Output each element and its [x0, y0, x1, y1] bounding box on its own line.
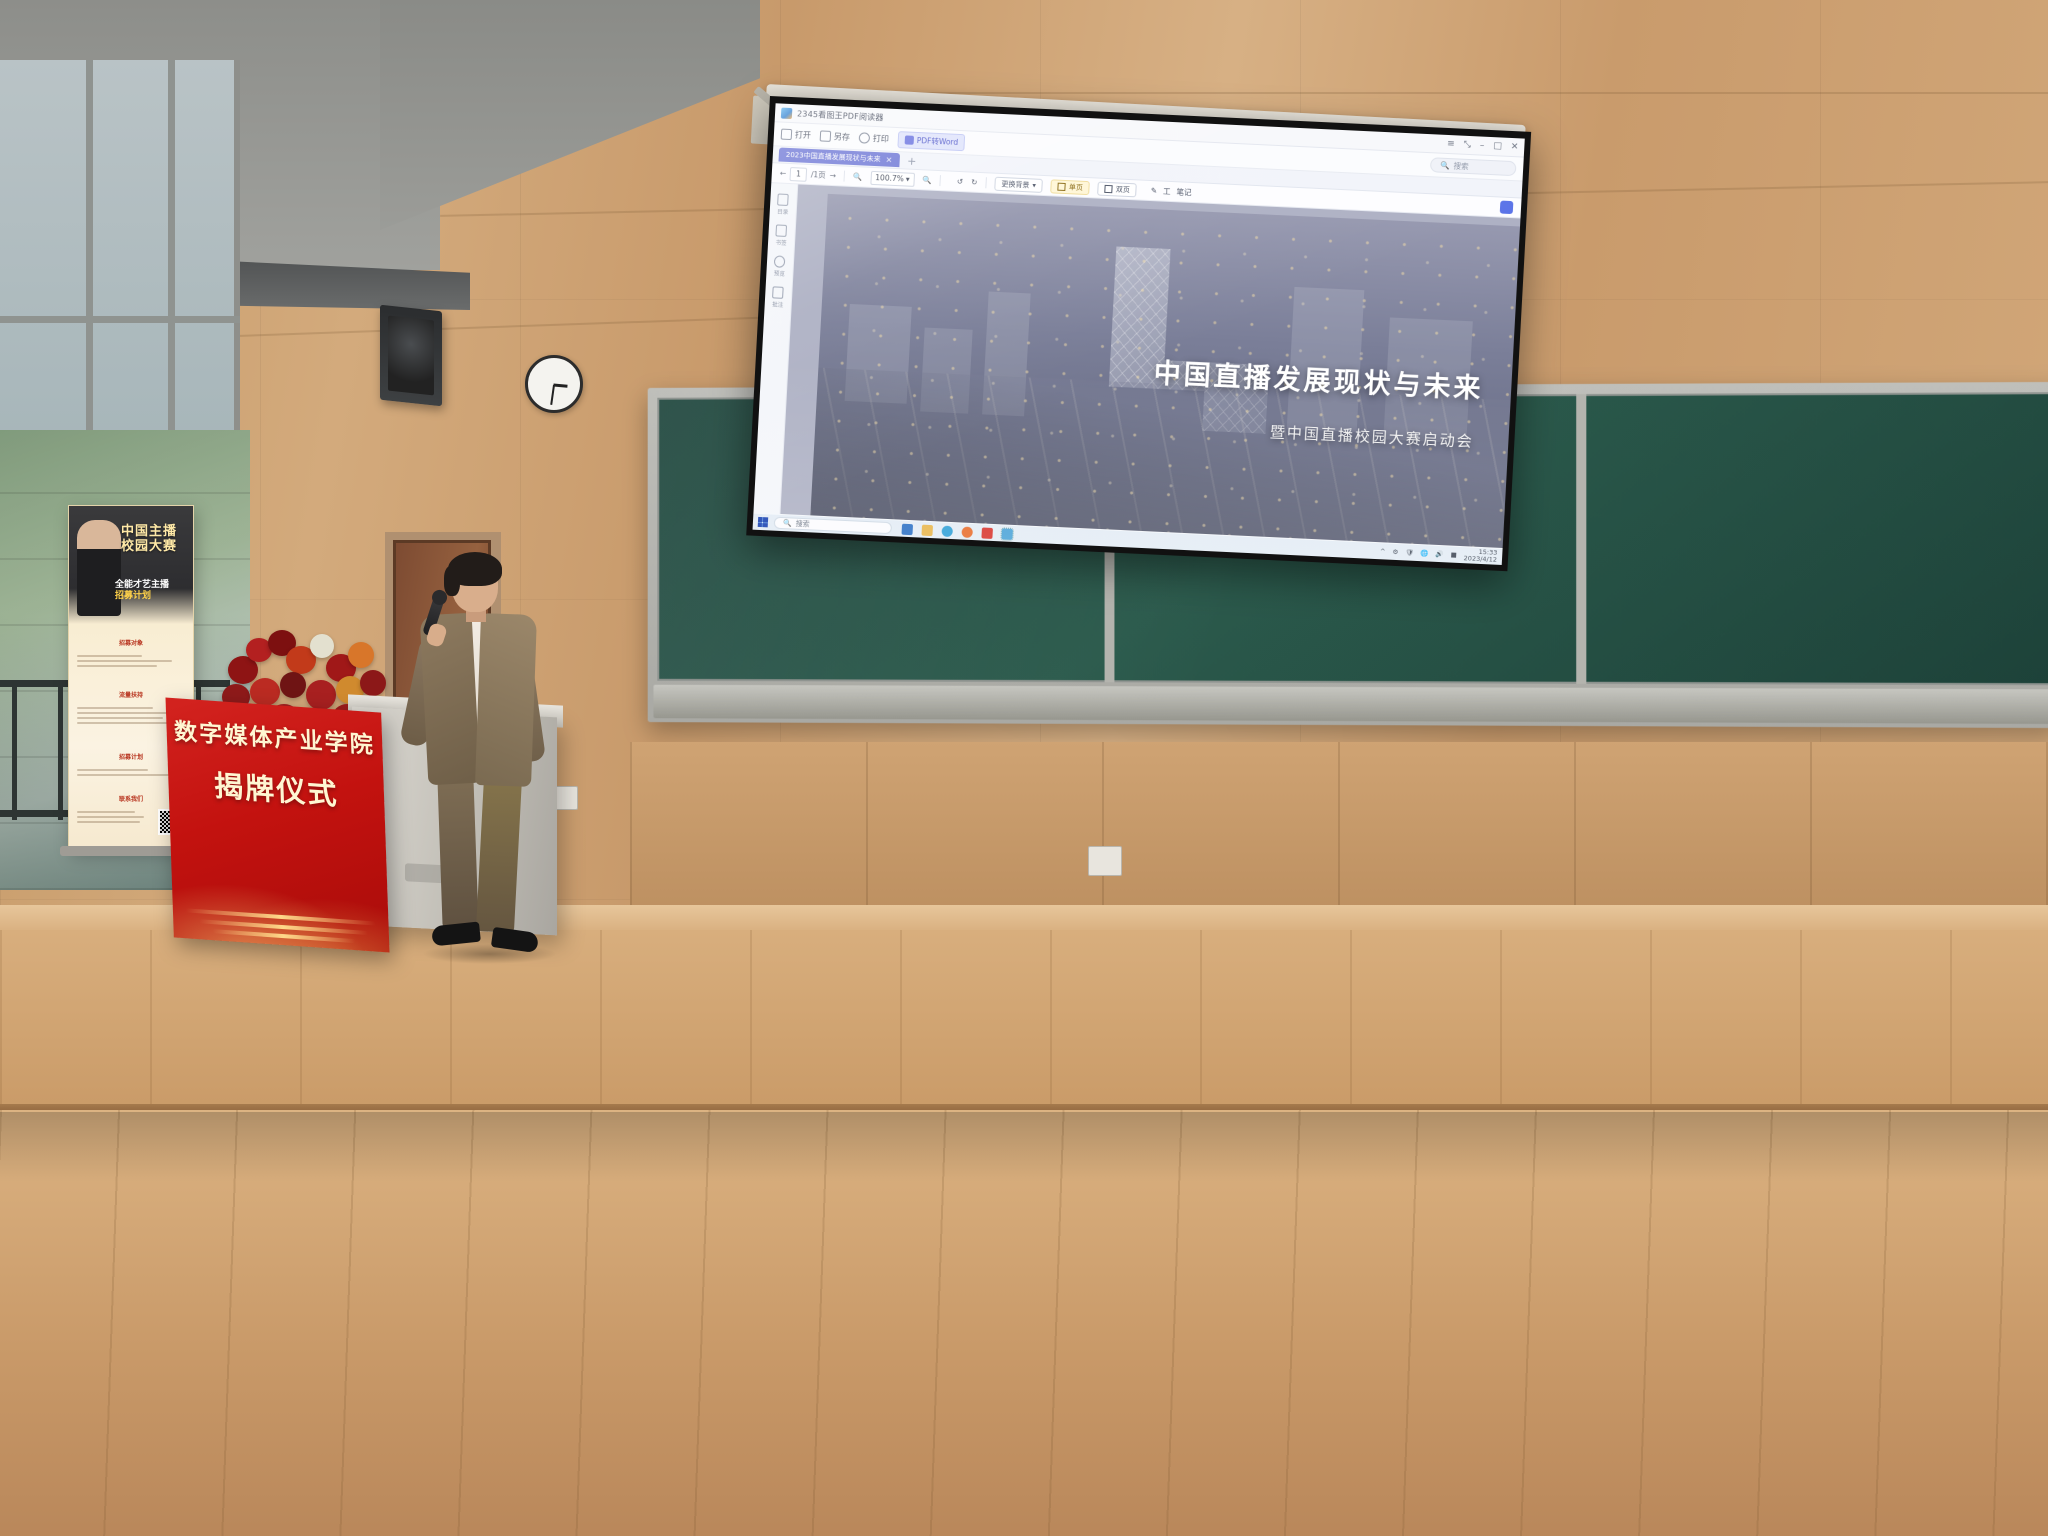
chalk-tray — [653, 685, 2048, 724]
presenter-left-leg — [437, 775, 478, 928]
search-icon: 🔍 — [1440, 161, 1450, 170]
banner-title: 中国主播 校园大赛 — [121, 524, 191, 554]
double-page-icon — [1105, 184, 1113, 192]
annotation-label: 批注 — [772, 300, 783, 309]
document-viewport[interactable]: 中国直播发展现状与未来 暨中国直播校园大赛启动会 — [780, 184, 1520, 548]
tool-button[interactable]: 工 — [1163, 186, 1171, 197]
wall-cabinets — [630, 742, 2048, 932]
preview-icon — [774, 255, 786, 268]
single-page-label: 单页 — [1069, 182, 1084, 193]
projection-screen: 2345看图王PDF阅读器 ≡ ⤡ – □ ✕ 打开 另存 — [746, 96, 1531, 571]
pager: ← 1 /1页 → — [779, 166, 836, 183]
volume-icon[interactable]: 🔊 — [1435, 550, 1444, 558]
banner-sub-line2: 招募计划 — [115, 591, 151, 601]
pen-tool-button[interactable]: ✎ — [1151, 186, 1158, 195]
taskbar-search-placeholder: 搜索 — [795, 519, 810, 530]
save-as-button[interactable]: 另存 — [820, 130, 851, 142]
document-tab-label: 2023中国直播发展现状与未来 — [786, 150, 881, 164]
close-icon[interactable]: ✕ — [1511, 142, 1519, 152]
bookmark-icon — [776, 224, 788, 237]
expand-icon[interactable]: ⤡ — [1463, 140, 1471, 150]
chevron-up-icon[interactable]: ^ — [1380, 547, 1386, 555]
page-number-input[interactable]: 1 — [790, 167, 808, 182]
open-label: 打开 — [795, 129, 812, 141]
battery-icon[interactable]: ■ — [1450, 551, 1457, 559]
ceremony-banner: 数字媒体产业学院 揭牌仪式 — [165, 698, 389, 953]
network-icon[interactable]: 🌐 — [1420, 549, 1429, 557]
edge-icon[interactable] — [901, 523, 913, 535]
convert-icon — [905, 135, 914, 144]
change-background-button[interactable]: 更换背景 ▾ — [994, 176, 1043, 192]
browser-icon[interactable] — [941, 525, 953, 537]
wps-icon[interactable] — [981, 527, 993, 539]
settings-icon[interactable]: ⚙ — [1392, 548, 1398, 556]
print-button[interactable]: 打印 — [859, 132, 890, 144]
app-logo-icon — [781, 107, 793, 119]
next-page-icon[interactable]: → — [829, 171, 836, 180]
zoom-in-icon[interactable]: 🔍 — [922, 175, 932, 184]
double-page-label: 双页 — [1116, 184, 1131, 195]
pdf-page: 中国直播发展现状与未来 暨中国直播校园大赛启动会 — [810, 194, 1520, 548]
chevron-down-icon: ▾ — [1032, 181, 1036, 189]
banner-title-line2: 校园大赛 — [121, 539, 177, 554]
chevron-down-icon: ▾ — [906, 173, 910, 185]
projected-desktop: 2345看图王PDF阅读器 ≡ ⤡ – □ ✕ 打开 另存 — [753, 103, 1525, 565]
ceremony-banner-line2: 揭牌仪式 — [213, 763, 339, 814]
presenter-jacket-right — [475, 613, 537, 787]
wall-speaker-icon — [380, 305, 442, 407]
banner-subtitle: 全能才艺主播 招募计划 — [115, 580, 193, 602]
zoom-out-icon[interactable]: 🔍 — [853, 172, 863, 181]
pdf-to-word-button[interactable]: PDF转Word — [897, 131, 965, 151]
account-avatar[interactable] — [1500, 201, 1514, 215]
prev-page-icon[interactable]: ← — [780, 169, 787, 178]
shield-icon[interactable]: 🛡 — [1405, 548, 1414, 556]
pdf-reader-icon[interactable] — [1001, 528, 1013, 540]
folder-open-icon — [781, 129, 793, 141]
new-tab-icon[interactable]: + — [903, 154, 921, 168]
single-page-button[interactable]: 单页 — [1051, 179, 1091, 195]
search-icon: 🔍 — [783, 519, 792, 527]
maximize-icon[interactable]: □ — [1493, 141, 1502, 151]
app-body: 目录 书签 预览 批注 — [753, 183, 1520, 548]
note-button[interactable]: 笔记 — [1176, 186, 1192, 198]
toc-label: 目录 — [777, 207, 788, 216]
minimize-icon[interactable]: – — [1480, 140, 1485, 150]
taskbar-search-input[interactable]: 🔍 搜索 — [774, 517, 893, 535]
preview-label: 预览 — [774, 269, 785, 278]
stage-front-face — [0, 930, 2048, 1120]
print-label: 打印 — [873, 133, 890, 145]
banner-sub-line1: 全能才艺主播 — [115, 580, 169, 590]
double-page-button[interactable]: 双页 — [1097, 181, 1137, 197]
clock-date: 2023/4/12 — [1463, 555, 1497, 564]
sidebar-item-preview[interactable]: 预览 — [774, 255, 786, 277]
zoom-level-select[interactable]: 100.7% ▾ — [870, 170, 915, 186]
presenter-left-shoe — [431, 922, 481, 947]
zoom-value: 100.7% — [875, 172, 904, 185]
change-background-label: 更换背景 — [1001, 179, 1030, 190]
save-as-label: 另存 — [834, 131, 851, 143]
rotate-left-glyph[interactable]: ↺ — [957, 177, 964, 186]
search-placeholder: 搜索 — [1453, 160, 1469, 172]
toc-icon — [778, 193, 790, 206]
printer-icon — [859, 132, 871, 144]
search-input[interactable]: 🔍 搜索 — [1430, 157, 1517, 176]
page-total-label: /1页 — [811, 169, 826, 181]
open-button[interactable]: 打开 — [781, 129, 812, 141]
ceremony-banner-line1: 数字媒体产业学院 — [173, 712, 375, 760]
app-title: 2345看图王PDF阅读器 — [797, 108, 884, 123]
sidebar-item-bookmark[interactable]: 书签 — [775, 224, 787, 246]
tab-close-icon[interactable]: ✕ — [885, 155, 892, 164]
rotate-right-glyph[interactable]: ↻ — [971, 178, 978, 187]
bookmark-label: 书签 — [775, 238, 786, 247]
wall-socket — [1088, 846, 1122, 876]
annotation-icon — [773, 286, 785, 299]
sidebar-item-toc[interactable]: 目录 — [777, 193, 789, 215]
firefox-icon[interactable] — [961, 526, 973, 538]
menu-icon[interactable]: ≡ — [1447, 139, 1455, 149]
folder-icon[interactable] — [921, 524, 933, 536]
banner-section-heading: 招募对象 — [75, 638, 187, 647]
presenter-right-leg — [476, 775, 522, 933]
single-page-icon — [1058, 182, 1066, 190]
taskbar-clock[interactable]: 15:33 2023/4/12 — [1463, 548, 1497, 565]
wall-clock-icon — [525, 355, 583, 413]
banner-title-line1: 中国主播 — [121, 524, 177, 539]
sidebar-item-annotation[interactable]: 批注 — [772, 286, 784, 308]
floor-shadow — [0, 1112, 2048, 1182]
windows-start-icon[interactable] — [758, 517, 769, 527]
presenter — [404, 552, 574, 972]
lecture-hall-scene: 2345看图王PDF阅读器 ≡ ⤡ – □ ✕ 打开 另存 — [0, 0, 2048, 1536]
save-icon — [820, 130, 832, 142]
pdf-to-word-label: PDF转Word — [917, 135, 959, 148]
